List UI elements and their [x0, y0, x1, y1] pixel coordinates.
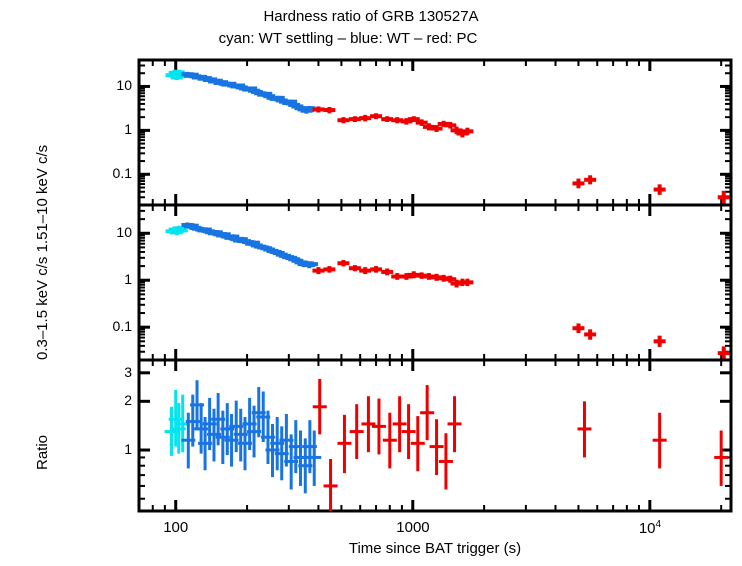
y-tick-label: 2	[70, 392, 132, 408]
y-tick-label: 10	[70, 77, 132, 93]
y-tick-label: 3	[70, 364, 132, 380]
series-wt-bottom	[181, 380, 321, 493]
y-tick-label: 10	[70, 224, 132, 240]
series-wt-middle	[181, 222, 318, 268]
figure-root: Hardness ratio of GRB 130527A cyan: WT s…	[0, 0, 742, 566]
x-tick-label: 104	[639, 519, 661, 537]
x-tick-label: 1000	[396, 519, 429, 536]
y-tick-label: 0.1	[70, 165, 132, 181]
series-wt-top	[181, 72, 318, 114]
y-tick-label: 1	[70, 121, 132, 137]
series-pc-bottom	[313, 379, 728, 511]
series-pc-middle	[312, 260, 729, 360]
y-tick-label: 1	[70, 271, 132, 287]
y-tick-label: 1	[70, 441, 132, 457]
series-pc-top	[312, 106, 729, 204]
y-tick-label: 0.1	[70, 318, 132, 334]
panel-frame-middle	[139, 205, 731, 360]
x-tick-label: 100	[163, 519, 188, 536]
